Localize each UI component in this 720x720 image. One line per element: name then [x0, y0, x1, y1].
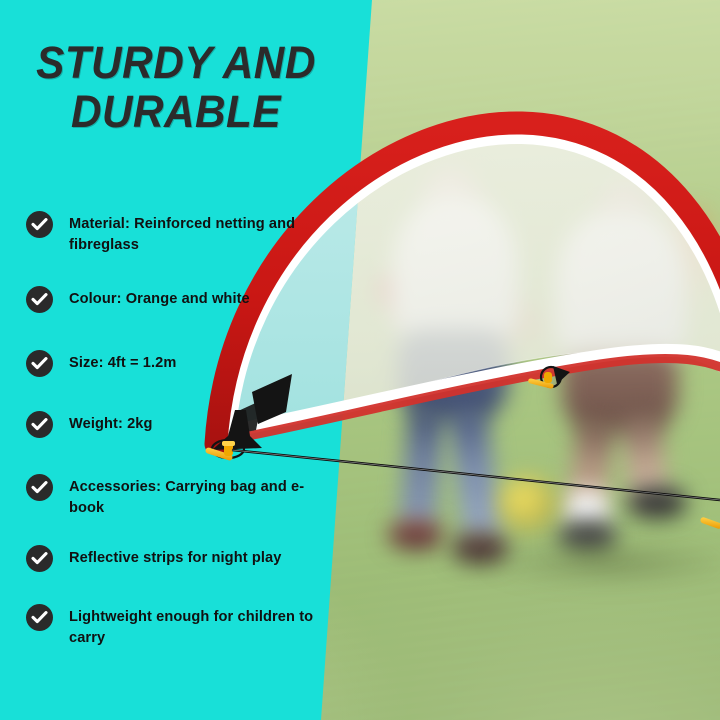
- title-line-2: DURABLE: [11, 87, 342, 136]
- title-line-1: STURDY AND: [36, 37, 316, 88]
- check-circle-icon: [26, 411, 53, 438]
- player-one: [392, 196, 518, 346]
- feature-item-colour: Colour: Orange and white: [26, 289, 331, 313]
- feature-text: Material: Reinforced netting and fibregl…: [69, 214, 331, 255]
- feature-text: Weight: 2kg: [69, 414, 331, 435]
- player-two: [556, 212, 686, 362]
- check-circle-icon: [26, 604, 53, 631]
- player-two: [628, 486, 686, 518]
- feature-item-weight: Weight: 2kg: [26, 414, 331, 438]
- feature-item-accessories: Accessories: Carrying bag and e-book: [26, 477, 331, 518]
- feature-text: Size: 4ft = 1.2m: [69, 353, 331, 374]
- check-circle-icon: [26, 350, 53, 377]
- player-one: [388, 520, 442, 550]
- feature-item-reflective: Reflective strips for night play: [26, 548, 331, 572]
- feature-text: Lightweight enough for children to carry: [69, 607, 331, 648]
- check-circle-icon: [26, 211, 53, 238]
- feature-item-lightweight: Lightweight enough for children to carry: [26, 607, 331, 648]
- page-title: STURDY AND DURABLE: [11, 38, 342, 136]
- feature-text: Accessories: Carrying bag and e-book: [69, 477, 331, 518]
- feature-text: Colour: Orange and white: [69, 289, 331, 310]
- feature-text: Reflective strips for night play: [69, 548, 331, 569]
- feature-item-size: Size: 4ft = 1.2m: [26, 353, 331, 377]
- infographic-canvas: STURDY AND DURABLE Material: Reinforced …: [0, 0, 720, 720]
- feature-item-material: Material: Reinforced netting and fibregl…: [26, 214, 331, 255]
- check-circle-icon: [26, 474, 53, 501]
- check-circle-icon: [26, 545, 53, 572]
- check-circle-icon: [26, 286, 53, 313]
- ground-shadow: [480, 540, 720, 586]
- football: [498, 476, 558, 532]
